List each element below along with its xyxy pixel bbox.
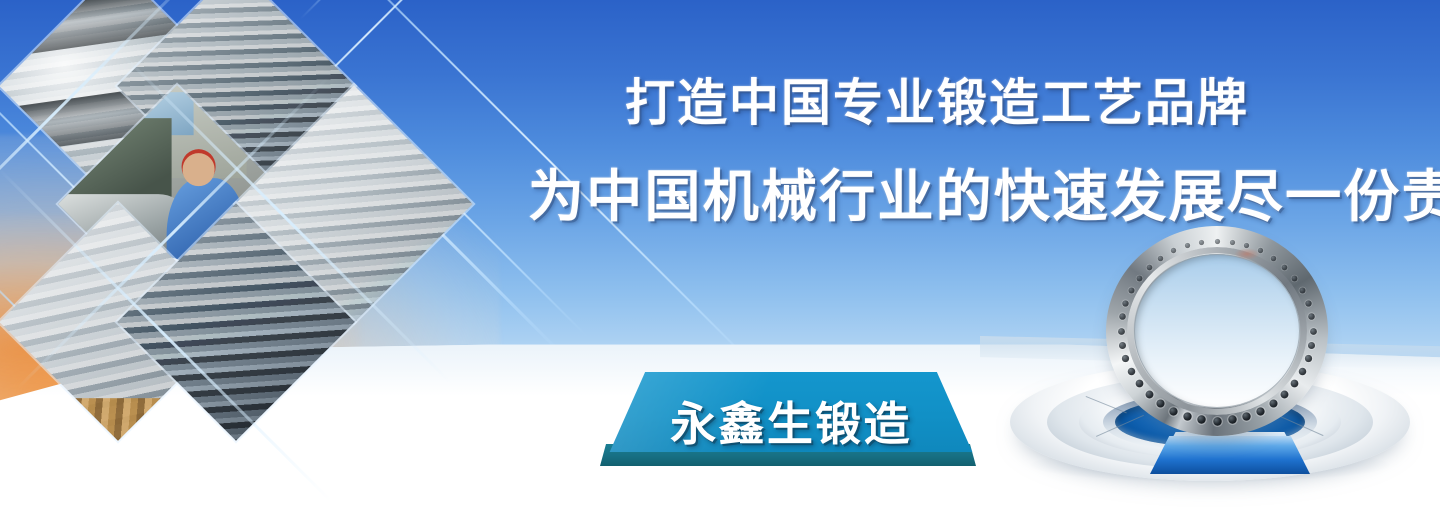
diamond-photo-collage [10, 0, 440, 378]
flange-bolt-hole [1183, 412, 1191, 420]
flange-ring [1092, 214, 1342, 444]
flange-bolt-hole [1119, 314, 1126, 321]
flange-bolt-hole [1198, 416, 1206, 424]
flange-bolt-hole [1291, 380, 1299, 388]
flange-bolt-hole [1128, 287, 1134, 293]
flange-bolt-hole [1119, 342, 1126, 349]
flange-bolt-hole [1213, 417, 1221, 425]
flange-bolt-hole [1128, 368, 1136, 376]
flange-bolt-hole [1310, 328, 1317, 335]
flange-bolt-hole [1281, 391, 1289, 399]
flange-bolt-hole [1299, 287, 1305, 293]
flange-bolt-hole [1214, 238, 1219, 243]
flange-bolt-hole [1146, 264, 1152, 270]
flange-bolt-hole [1185, 243, 1190, 248]
flange-bolt-hole [1292, 275, 1298, 281]
flange-bolt-hole [1244, 243, 1249, 248]
flange-bolt-hole [1305, 300, 1311, 306]
flange-bolt-hole [1199, 239, 1204, 244]
flange-center-opening [1134, 254, 1300, 408]
flange-bolt-hole [1299, 368, 1307, 376]
flange-bolt-hole [1309, 314, 1316, 321]
flange-rust-mark [1234, 248, 1260, 260]
flange-bolt-hole [1269, 400, 1277, 408]
flange-bolt-hole [1122, 355, 1129, 362]
brand-badge[interactable]: 永鑫生锻造 [596, 372, 986, 480]
flange-bolt-hole [1135, 380, 1143, 388]
flange-bolt-hole [1118, 328, 1125, 335]
flange-bolt-hole [1123, 300, 1129, 306]
flange-bolt-hole [1145, 391, 1153, 399]
flange-bolt-hole [1258, 248, 1263, 253]
flange-bolt-hole [1242, 412, 1250, 420]
flange-bolt-hole [1305, 355, 1312, 362]
flange-bolt-hole [1157, 400, 1165, 408]
flange-bolt-hole [1229, 239, 1234, 244]
badge-label: 永鑫生锻造 [596, 388, 986, 454]
flange-bolt-hole [1256, 407, 1264, 415]
flange-bolt-hole [1282, 264, 1288, 270]
headline-line-1: 打造中国专业锻造工艺品牌 [625, 63, 1249, 135]
flange-bolt-hole [1308, 342, 1315, 349]
flange-bolt-hole [1228, 416, 1236, 424]
flange-bolt-hole [1169, 407, 1177, 415]
flange-bolt-hole [1171, 248, 1176, 253]
flange-ring-body [1106, 226, 1328, 436]
hero-banner: 打造中国专业锻造工艺品牌 为中国机械行业的快速发展尽一份责任 永鑫生锻造 [0, 0, 1440, 525]
flange-bolt-hole [1158, 255, 1164, 261]
flange-bolt-hole [1271, 255, 1277, 261]
flange-bolt-hole [1136, 275, 1142, 281]
